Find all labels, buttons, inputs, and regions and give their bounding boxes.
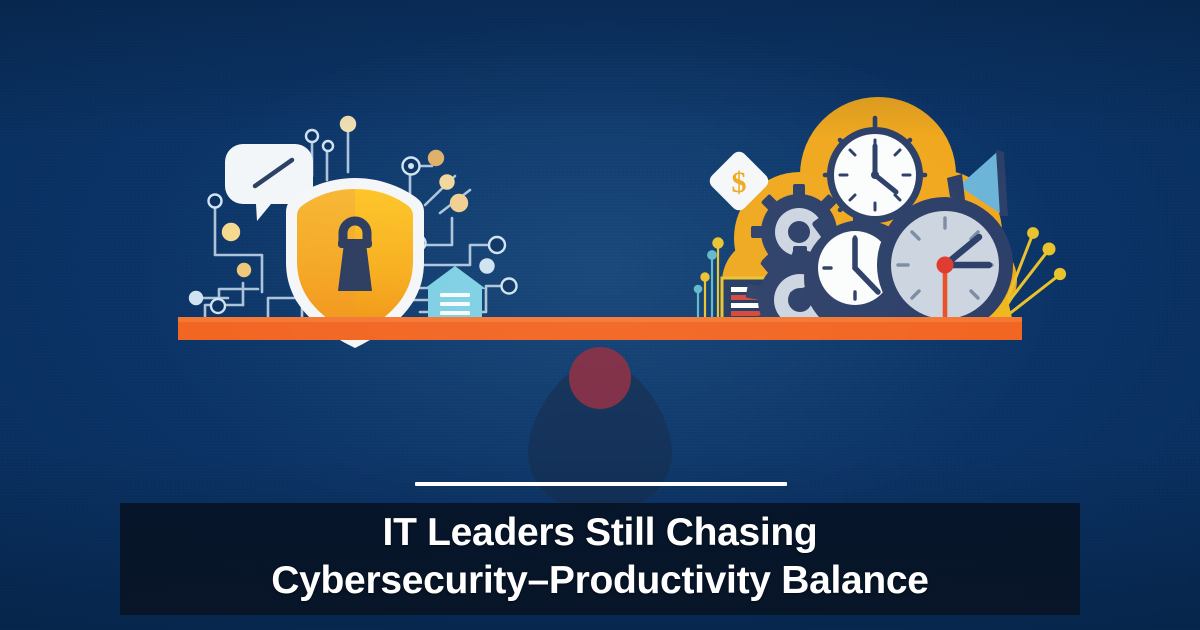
title-banner: IT Leaders Still Chasing Cybersecurity–P…: [120, 503, 1080, 615]
title-divider: [415, 482, 787, 486]
page-title-line-1: IT Leaders Still Chasing: [383, 509, 818, 557]
poster-canvas: $: [0, 0, 1200, 630]
page-title-line-2: Cybersecurity–Productivity Balance: [271, 557, 928, 605]
